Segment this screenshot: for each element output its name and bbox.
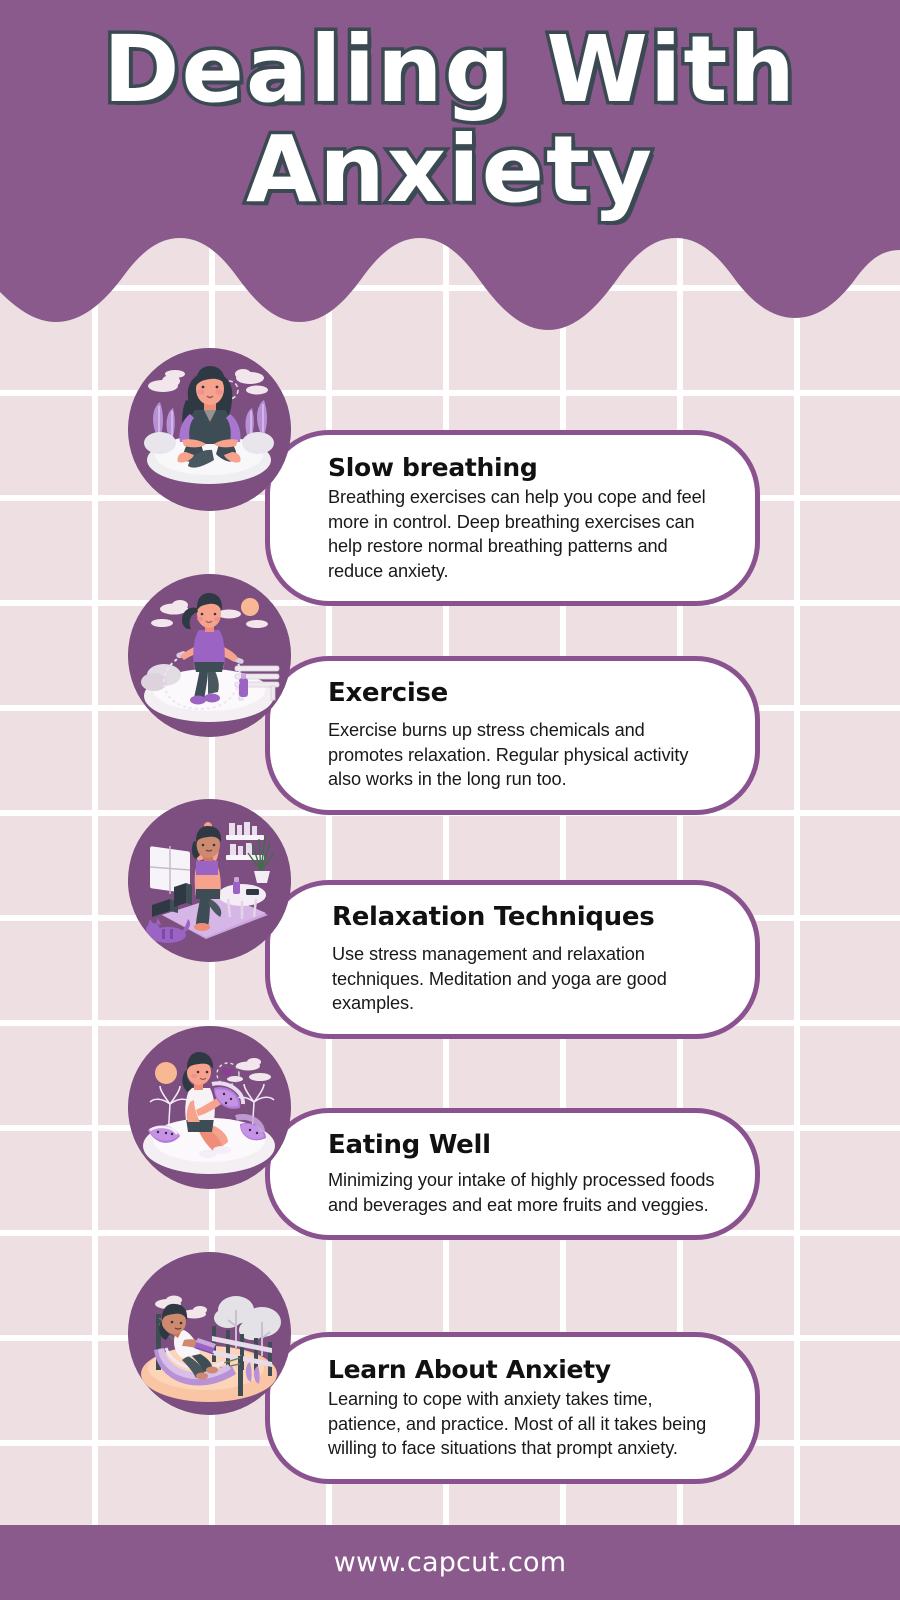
tip-card[interactable]: Slow breathing Breathing exercises can h… (265, 430, 760, 606)
header-wave-shape (0, 0, 900, 330)
list-item: Eating Well Minimizing your intake of hi… (0, 1008, 900, 1234)
jumping-rope-woman-illustration (128, 574, 291, 737)
list-item: Relaxation Techniques Use stress managem… (0, 782, 900, 1008)
tips-list: Slow breathing Breathing exercises can h… (0, 330, 900, 1460)
list-item: Slow breathing Breathing exercises can h… (0, 330, 900, 556)
yoga-tree-pose-woman-illustration (128, 799, 291, 962)
reading-in-hammock-woman-illustration (128, 1252, 291, 1415)
card-title: Eating Well (328, 1129, 721, 1162)
tip-card[interactable]: Relaxation Techniques Use stress managem… (265, 880, 760, 1039)
card-body: Minimizing your intake of highly process… (328, 1168, 721, 1217)
footer-bar: www.capcut.com (0, 1525, 900, 1600)
card-body: Exercise burns up stress chemicals and p… (328, 718, 721, 792)
meditating-woman-illustration (128, 348, 291, 511)
card-title: Learn About Anxiety (328, 1353, 721, 1386)
website-url[interactable]: www.capcut.com (334, 1547, 566, 1578)
eating-watermelon-woman-illustration (128, 1026, 291, 1189)
list-item: Learn About Anxiety Learning to cope wit… (0, 1234, 900, 1460)
tip-card[interactable]: Exercise Exercise burns up stress chemic… (265, 656, 760, 815)
card-title: Relaxation Techniques (332, 901, 721, 934)
tip-card[interactable]: Learn About Anxiety Learning to cope wit… (265, 1332, 760, 1484)
infographic-poster: Dealing With Anxiety (0, 0, 900, 1600)
card-body: Use stress management and relaxation tec… (332, 942, 721, 1016)
card-title: Exercise (328, 677, 721, 710)
header-banner: Dealing With Anxiety (0, 0, 900, 330)
card-title: Slow breathing (328, 451, 721, 484)
card-body: Breathing exercises can help you cope an… (328, 485, 721, 583)
card-body: Learning to cope with anxiety takes time… (328, 1387, 721, 1461)
tip-card[interactable]: Eating Well Minimizing your intake of hi… (265, 1108, 760, 1240)
